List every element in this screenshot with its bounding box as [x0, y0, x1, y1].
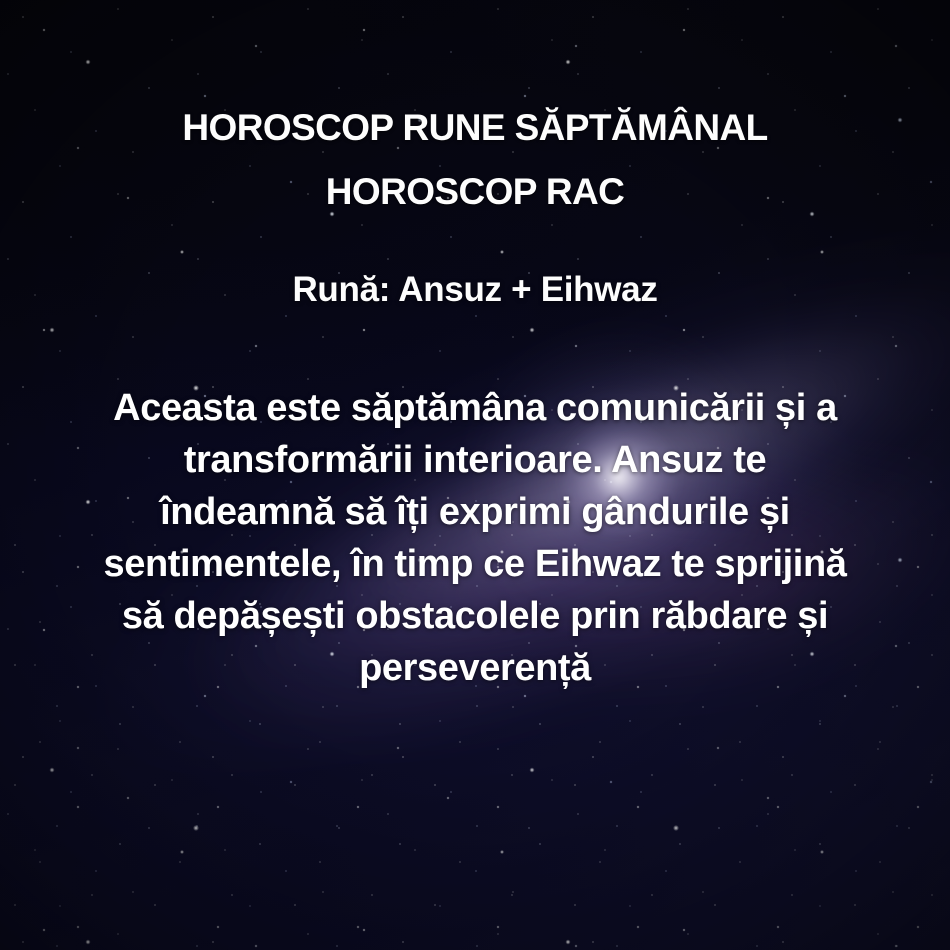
- body-line: sentimentele, în timp ce Eihwaz te sprij…: [42, 538, 908, 590]
- poster-content: HOROSCOP RUNE SĂPTĂMÂNAL HOROSCOP RAC Ru…: [0, 0, 950, 950]
- body-line: transformării interioare. Ansuz te: [42, 434, 908, 486]
- horoscope-poster: HOROSCOP RUNE SĂPTĂMÂNAL HOROSCOP RAC Ru…: [0, 0, 950, 950]
- page-title-secondary: HOROSCOP RAC: [0, 160, 950, 224]
- body-line: să depășești obstacolele prin răbdare și: [42, 590, 908, 642]
- body-line: Aceasta este săptămâna comunicării și a: [42, 382, 908, 434]
- horoscope-body: Aceasta este săptămâna comunicării și a …: [42, 382, 908, 694]
- body-line: îndeamnă să îți exprimi gândurile și: [42, 486, 908, 538]
- title-block: HOROSCOP RUNE SĂPTĂMÂNAL HOROSCOP RAC: [0, 96, 950, 224]
- rune-label: Rună: Ansuz + Eihwaz: [0, 270, 950, 310]
- page-title-primary: HOROSCOP RUNE SĂPTĂMÂNAL: [0, 96, 950, 160]
- body-line: perseverență: [42, 642, 908, 694]
